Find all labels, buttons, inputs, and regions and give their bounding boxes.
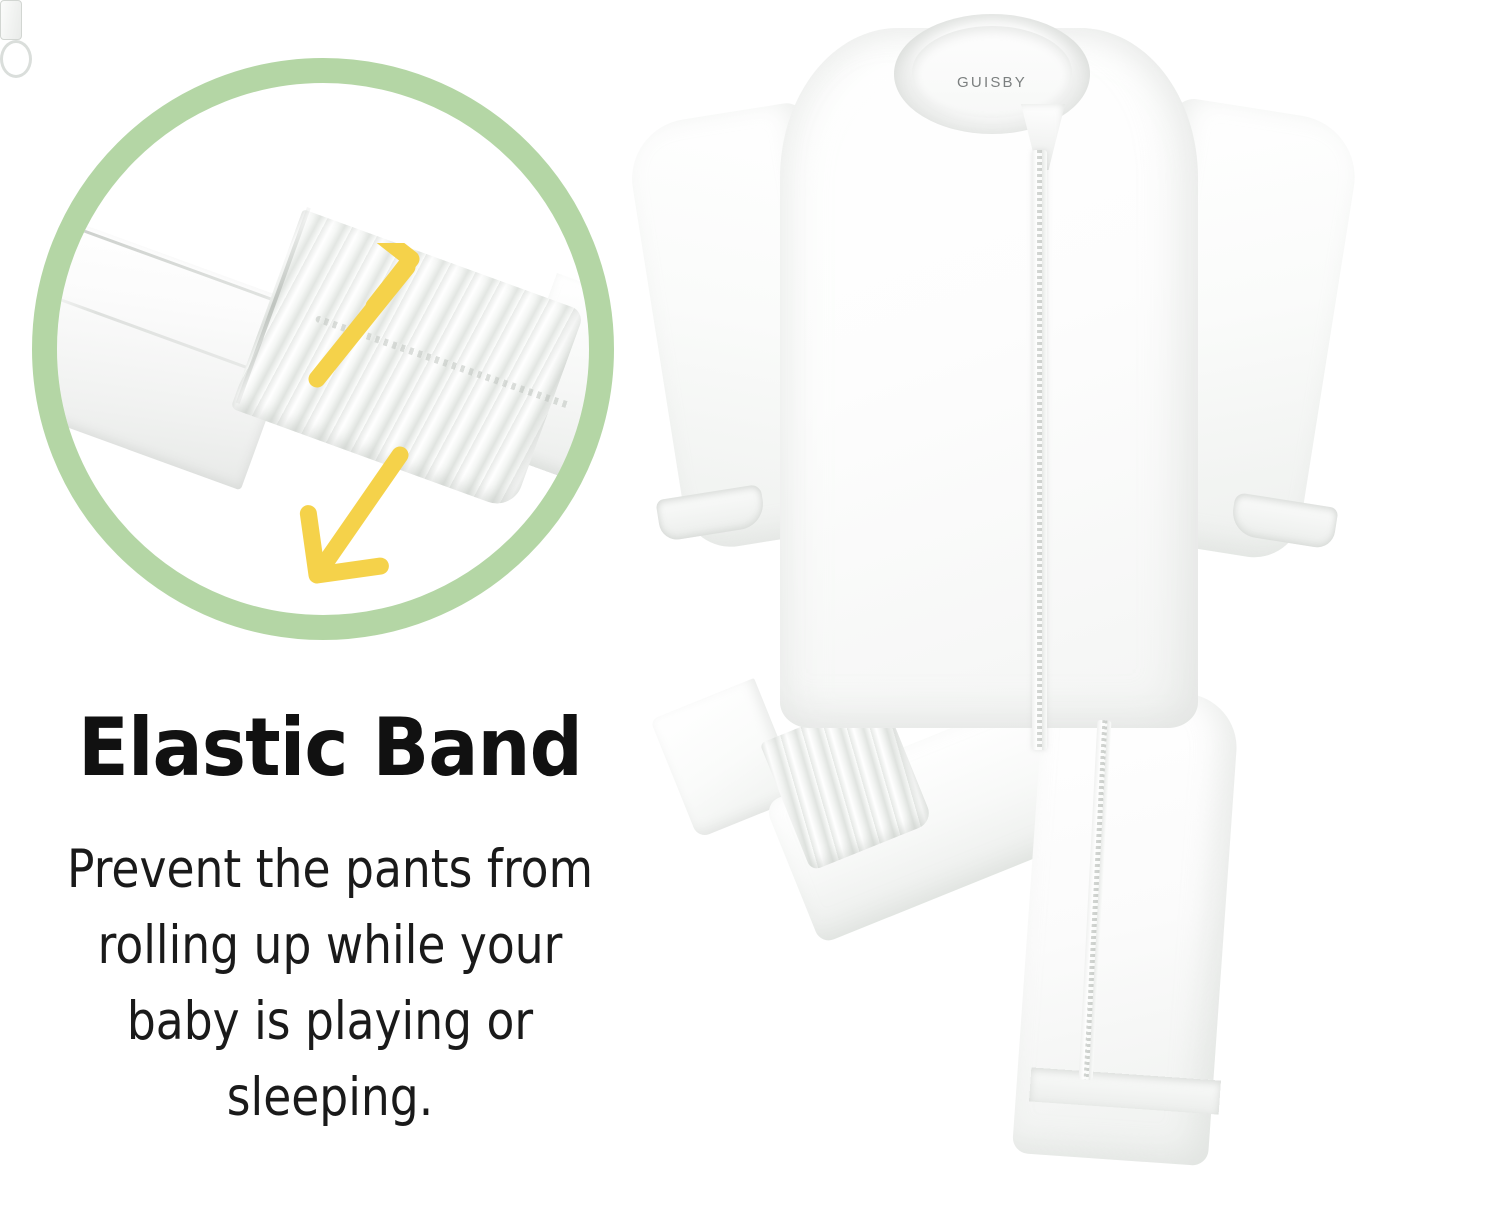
- feature-title: Elastic Band: [23, 700, 637, 796]
- infographic-canvas: Elastic Band Prevent the pants from roll…: [0, 0, 1500, 1217]
- garment-product-image: GUISBY: [620, 0, 1500, 1217]
- detail-inset-ring: [32, 58, 614, 640]
- detail-inset: [32, 58, 614, 640]
- feature-copy-block: Elastic Band Prevent the pants from roll…: [0, 700, 660, 1136]
- zipper-teeth-upper: [1037, 150, 1042, 750]
- zipper-slider: [0, 0, 22, 40]
- feature-description: Prevent the pants from rolling up while …: [46, 832, 614, 1136]
- brand-label: GUISBY: [894, 74, 1090, 91]
- zipper-pull-ring-icon: [0, 40, 32, 78]
